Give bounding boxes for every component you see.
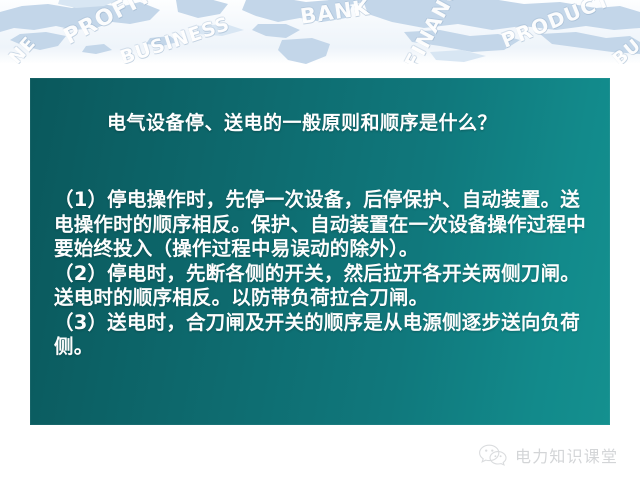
footer-watermark-label: 电力知识课堂 (515, 443, 618, 467)
body-paragraph-3: （3）送电时，合刀闸及开关的顺序是从电源侧逐步送向负荷侧。 (54, 311, 594, 360)
panel-title: 电气设备停、送电的一般原则和顺序是什么？ (30, 108, 610, 135)
wechat-icon (478, 442, 508, 468)
body-paragraph-2: （2）停电时，先断各侧的开关，然后拉开各开关两侧刀闸。送电时的顺序相反。以防带负… (54, 262, 594, 311)
footer-watermark: 电力知识课堂 (478, 440, 628, 470)
body-paragraph-1: （1）停电操作时，先停一次设备，后停保护、自动装置。送电操作时的顺序相反。保护、… (54, 188, 594, 262)
content-panel: 电气设备停、送电的一般原则和顺序是什么？ （1）停电操作时，先停一次设备，后停保… (30, 78, 610, 425)
background-header-band: PROFIT BUSINESS BANK FINANCY PRODUCT BU … (0, 0, 640, 64)
panel-body: （1）停电操作时，先停一次设备，后停保护、自动装置。送电操作时的顺序相反。保护、… (54, 188, 594, 360)
